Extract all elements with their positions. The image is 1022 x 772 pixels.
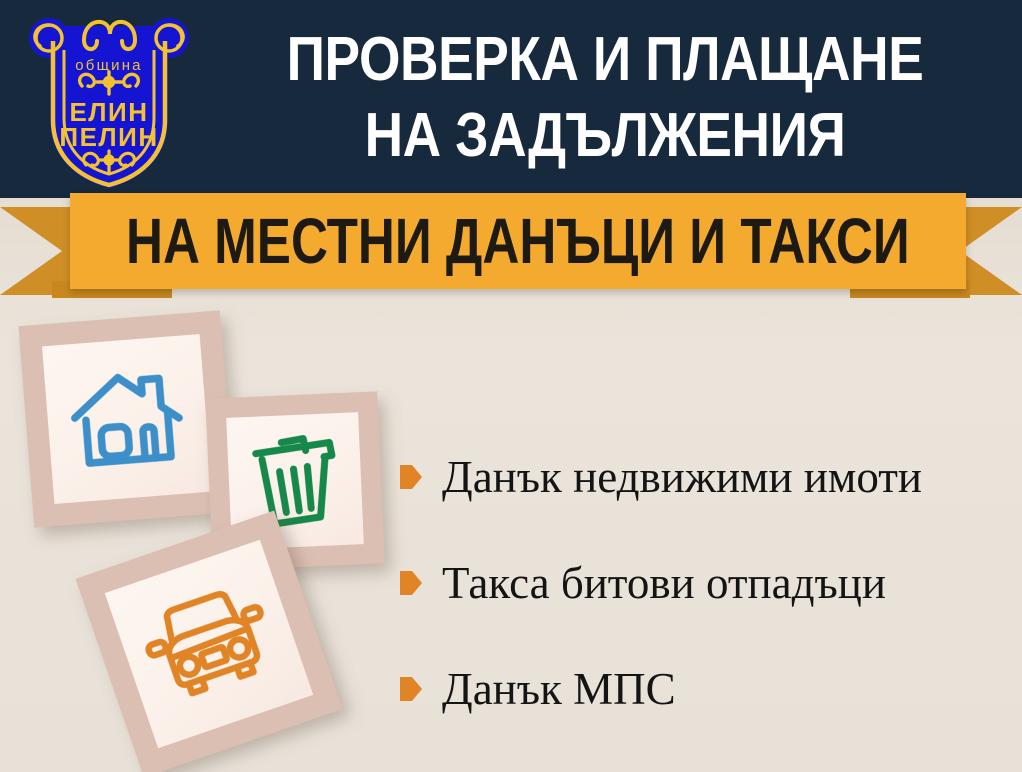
list-item[interactable]: Данък недвижими имоти [400,424,1015,530]
ribbon-label: НА МЕСТНИ ДАНЪЦИ И ТАКСИ [126,209,910,273]
car-icon [134,578,284,710]
subtitle-ribbon: НА МЕСТНИ ДАНЪЦИ И ТАКСИ [0,193,1022,305]
arrow-bullet-icon [400,464,422,490]
list-item-label: Данък недвижими имоти [442,452,922,502]
logo-name-line2: ПЕЛИН [59,122,158,152]
title-line-1: ПРОВЕРКА И ПЛАЩАНЕ [257,22,954,98]
list-item[interactable]: Данък МПС [400,636,1015,742]
title-line-2: НА ЗАДЪЛЖЕНИЯ [257,98,954,174]
stamp-paper [42,334,212,504]
stamp-card-property [18,310,235,527]
municipality-logo: община ЕЛИН ПЕЛИН [22,8,197,194]
ribbon-band: НА МЕСТНИ ДАНЪЦИ И ТАКСИ [70,193,966,289]
arrow-bullet-icon [400,676,422,702]
poster-title: ПРОВЕРКА И ПЛАЩАНЕ НА ЗАДЪЛЖЕНИЯ [200,22,1010,174]
tax-type-list: Данък недвижими имоти Такса битови отпад… [400,424,1015,742]
list-item[interactable]: Такса битови отпадъци [400,530,1015,636]
arrow-bullet-icon [400,570,422,596]
list-item-label: Данък МПС [442,664,676,714]
house-icon [65,363,189,476]
list-item-label: Такса битови отпадъци [442,558,886,608]
poster-canvas: община ЕЛИН ПЕЛИН ПРОВЕ [0,0,1022,772]
